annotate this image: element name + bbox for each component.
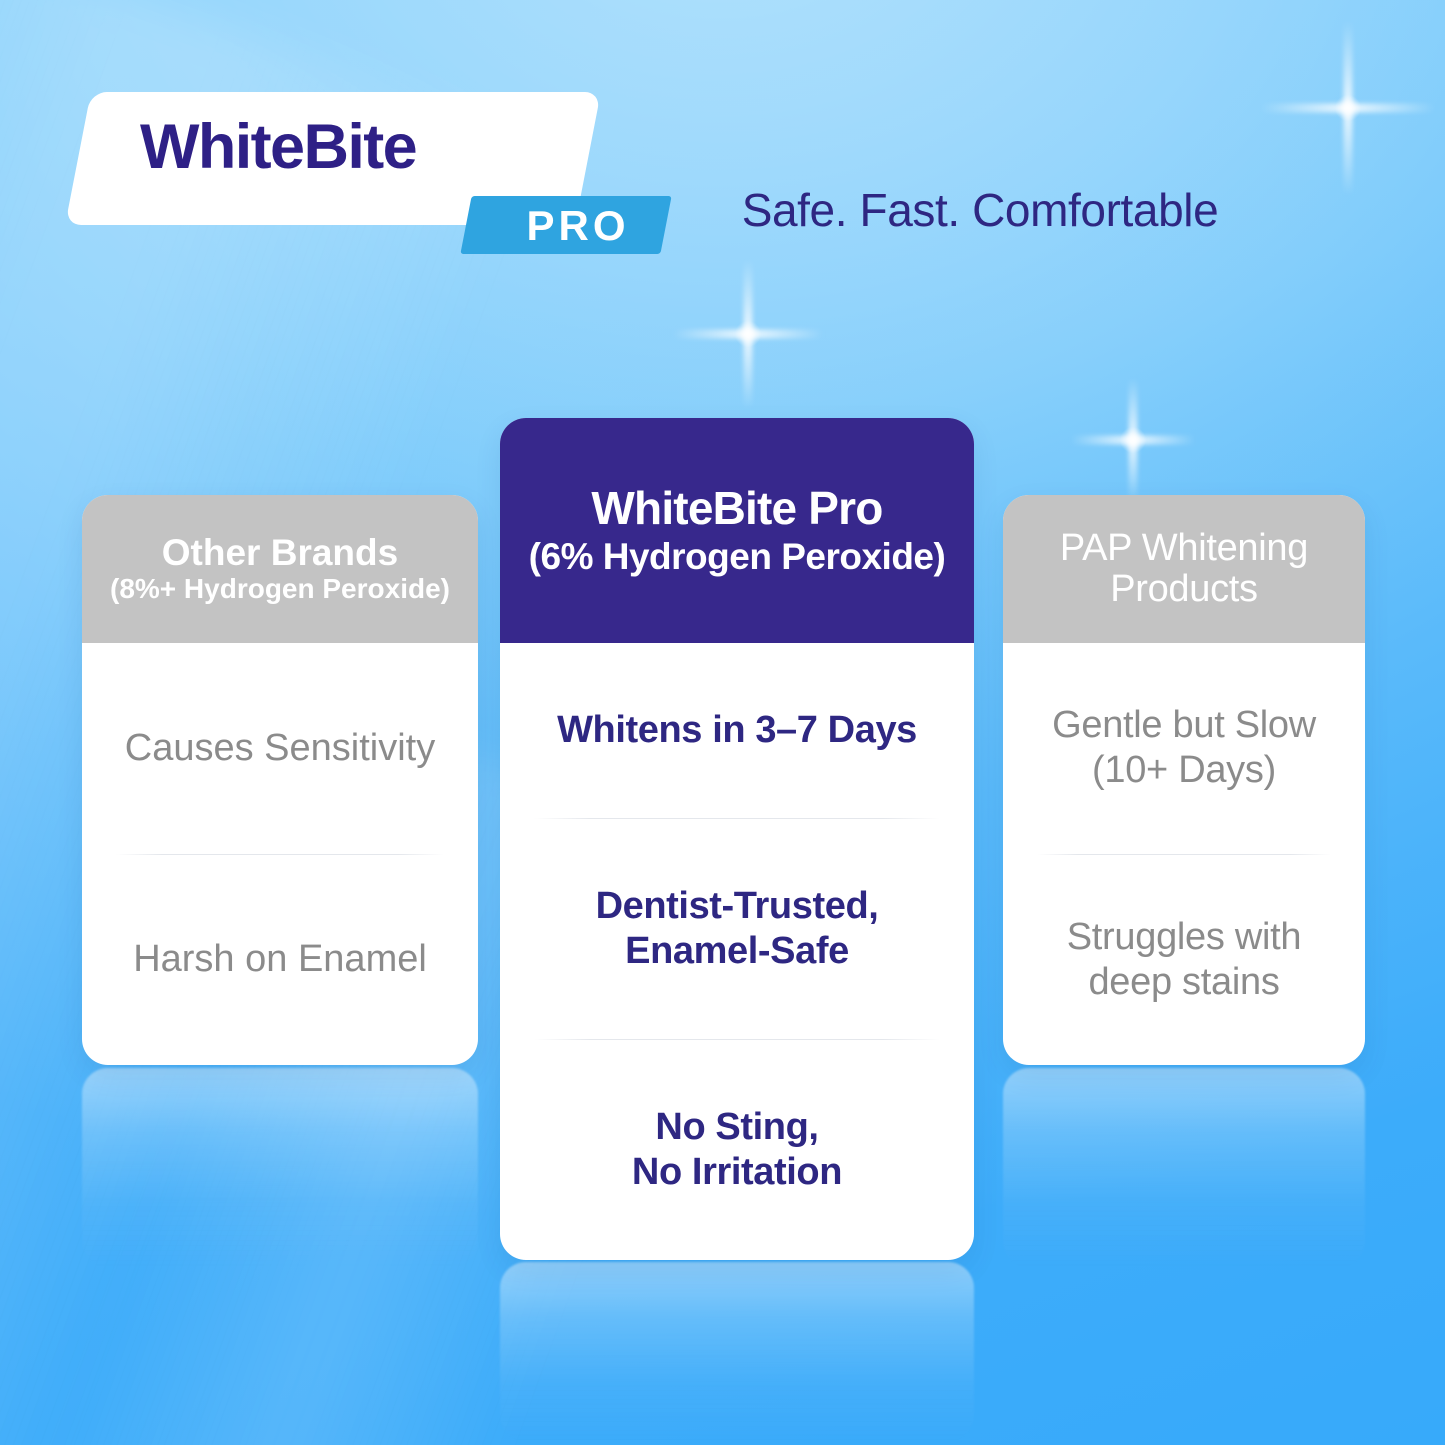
comparison-row: No Sting,No Irritation [500,1040,974,1260]
comparison-row: Gentle but Slow(10+ Days) [1003,643,1365,854]
logo-pro-label: PRO [498,203,658,249]
column-header-whitebite-pro: WhiteBite Pro (6% Hydrogen Peroxide) [500,418,974,643]
comparison-row: Harsh on Enamel [82,855,478,1066]
column-header-title: WhiteBite Pro [591,484,882,533]
column-header-title: Other Brands [162,533,398,573]
card-reflection-center [500,1262,974,1442]
column-body-pap-whitening: Gentle but Slow(10+ Days) Struggles with… [1003,643,1365,1065]
column-header-title: PAP WhiteningProducts [1060,528,1308,609]
comparison-column-whitebite-pro: WhiteBite Pro (6% Hydrogen Peroxide) Whi… [500,418,974,1260]
comparison-row: Whitens in 3–7 Days [500,643,974,818]
card-reflection-left [82,1068,478,1268]
comparison-row: Causes Sensitivity [82,643,478,854]
column-header-other-brands: Other Brands (8%+ Hydrogen Peroxide) [82,495,478,643]
column-header-subtitle: (6% Hydrogen Peroxide) [529,537,946,578]
column-header-subtitle: (8%+ Hydrogen Peroxide) [110,574,450,605]
comparison-row: Dentist-Trusted,Enamel-Safe [500,819,974,1039]
column-body-whitebite-pro: Whitens in 3–7 Days Dentist-Trusted,Enam… [500,643,974,1260]
comparison-column-other-brands: Other Brands (8%+ Hydrogen Peroxide) Cau… [82,495,478,1065]
comparison-row: Struggles withdeep stains [1003,855,1365,1066]
comparison-column-pap-whitening: PAP WhiteningProducts Gentle but Slow(10… [1003,495,1365,1065]
page-tagline: Safe. Fast. Comfortable [700,185,1260,236]
logo-wordmark: WhiteBite [140,116,570,179]
card-reflection-right [1003,1068,1365,1268]
column-header-pap-whitening: PAP WhiteningProducts [1003,495,1365,643]
column-body-other-brands: Causes Sensitivity Harsh on Enamel [82,643,478,1065]
brand-logo: WhiteBite PRO [78,92,638,262]
